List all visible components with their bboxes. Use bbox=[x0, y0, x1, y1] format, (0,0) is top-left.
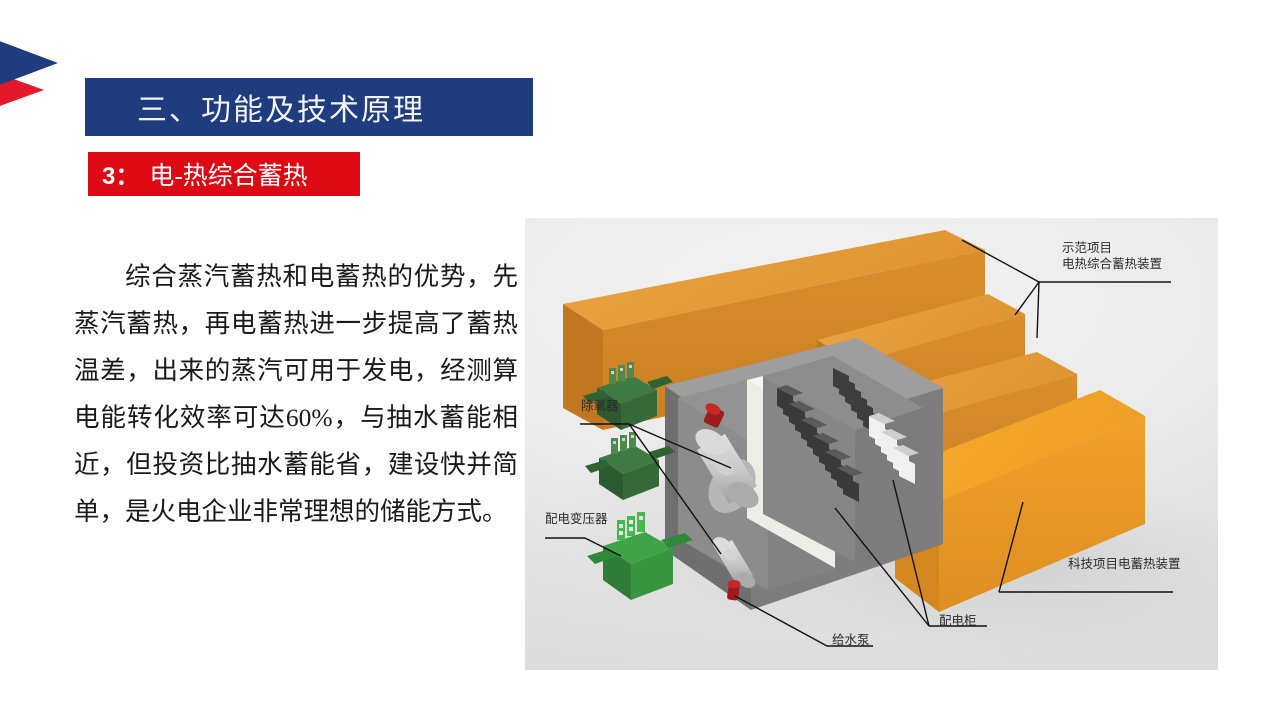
subtitle-bar: 3：电-热综合蓄热 bbox=[88, 152, 360, 196]
label-distribution-cabinet: 配电柜 bbox=[939, 613, 977, 629]
subtitle-number: 3： bbox=[102, 163, 139, 190]
body-paragraph: 综合蒸汽蓄热和电蓄热的优势，先蒸汽蓄热，再电蓄热进一步提高了蓄热温差，出来的蒸汽… bbox=[74, 253, 518, 535]
label-tech-project: 科技项目电蓄热装置 bbox=[1068, 556, 1181, 572]
isometric-3d-scene bbox=[525, 218, 1218, 670]
corner-decoration bbox=[0, 30, 80, 115]
label-feed-water-pump: 给水泵 bbox=[832, 632, 870, 648]
storage-system-illustration: 示范项目 电热综合蓄热装置 科技项目电蓄热装置 除氧器 配电变压器 给水泵 配电… bbox=[525, 218, 1218, 670]
subtitle-wrapper: 3：电-热综合蓄热 bbox=[102, 156, 308, 192]
label-demo-project-line1: 示范项目 bbox=[1062, 240, 1162, 256]
section-header-bar: 三、功能及技术原理 bbox=[85, 78, 533, 136]
section-title: 三、功能及技术原理 bbox=[137, 85, 425, 129]
label-deaerator: 除氧器 bbox=[581, 398, 619, 414]
decoration-blue-triangle-icon bbox=[0, 30, 58, 96]
subtitle-label: 电-热综合蓄热 bbox=[149, 163, 307, 190]
label-demo-project: 示范项目 电热综合蓄热装置 bbox=[1062, 240, 1162, 272]
slide-root: 三、功能及技术原理 3：电-热综合蓄热 综合蒸汽蓄热和电蓄热的优势，先蒸汽蓄热，… bbox=[0, 0, 1280, 720]
label-demo-project-line2: 电热综合蓄热装置 bbox=[1062, 256, 1162, 272]
label-distribution-transformer: 配电变压器 bbox=[545, 511, 608, 527]
